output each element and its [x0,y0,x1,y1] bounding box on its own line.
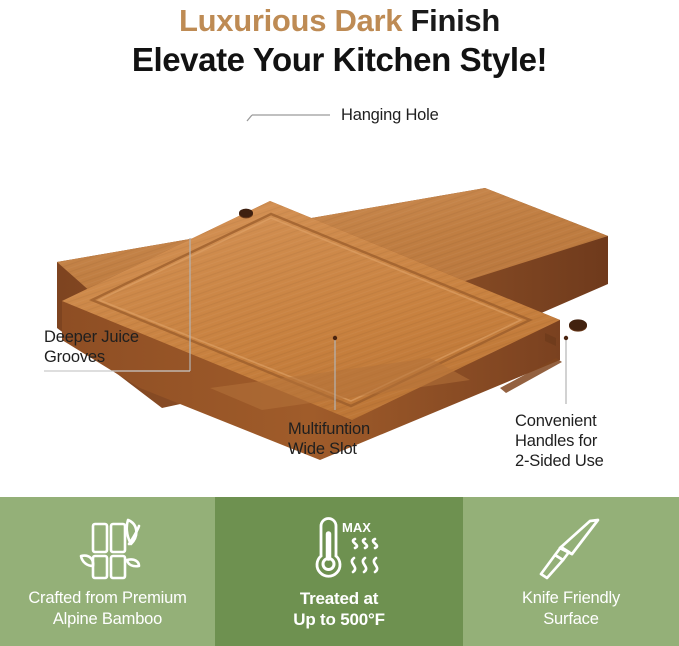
headline-accent-text: Luxurious Dark [179,3,402,38]
feature-text-heat: Treated at Up to 500°F [293,588,385,630]
headline-line-1: Luxurious Dark Finish [0,2,679,40]
infographic-page: Luxurious Dark Finish Elevate Your Kitch… [0,0,679,646]
headline-block: Luxurious Dark Finish Elevate Your Kitch… [0,2,679,80]
headline-rest-text: Finish [402,3,500,38]
feature-text-bamboo: Crafted from Premium Alpine Bamboo [28,588,186,630]
headline-line-2: Elevate Your Kitchen Style! [0,40,679,80]
thermometer-max-label: MAX [342,520,371,535]
feature-banner: Crafted from Premium Alpine Bamboo [0,497,679,646]
feature-panel-heat: MAX Treated at Up to 500°F [215,497,463,646]
feature-panel-bamboo: Crafted from Premium Alpine Bamboo [0,497,215,646]
callout-multifunction-wide-slot: Multifuntion Wide Slot [288,419,370,459]
thermometer-icon: MAX [287,510,391,586]
knife-icon [528,510,614,586]
callout-convenient-handles: Convenient Handles for 2-Sided Use [515,411,604,471]
callout-hanging-hole: Hanging Hole [341,105,439,125]
feature-panel-knife: Knife Friendly Surface [463,497,679,646]
callout-deeper-juice-grooves: Deeper Juice Grooves [44,327,139,367]
feature-text-knife: Knife Friendly Surface [522,588,620,630]
bamboo-icon [69,510,147,586]
